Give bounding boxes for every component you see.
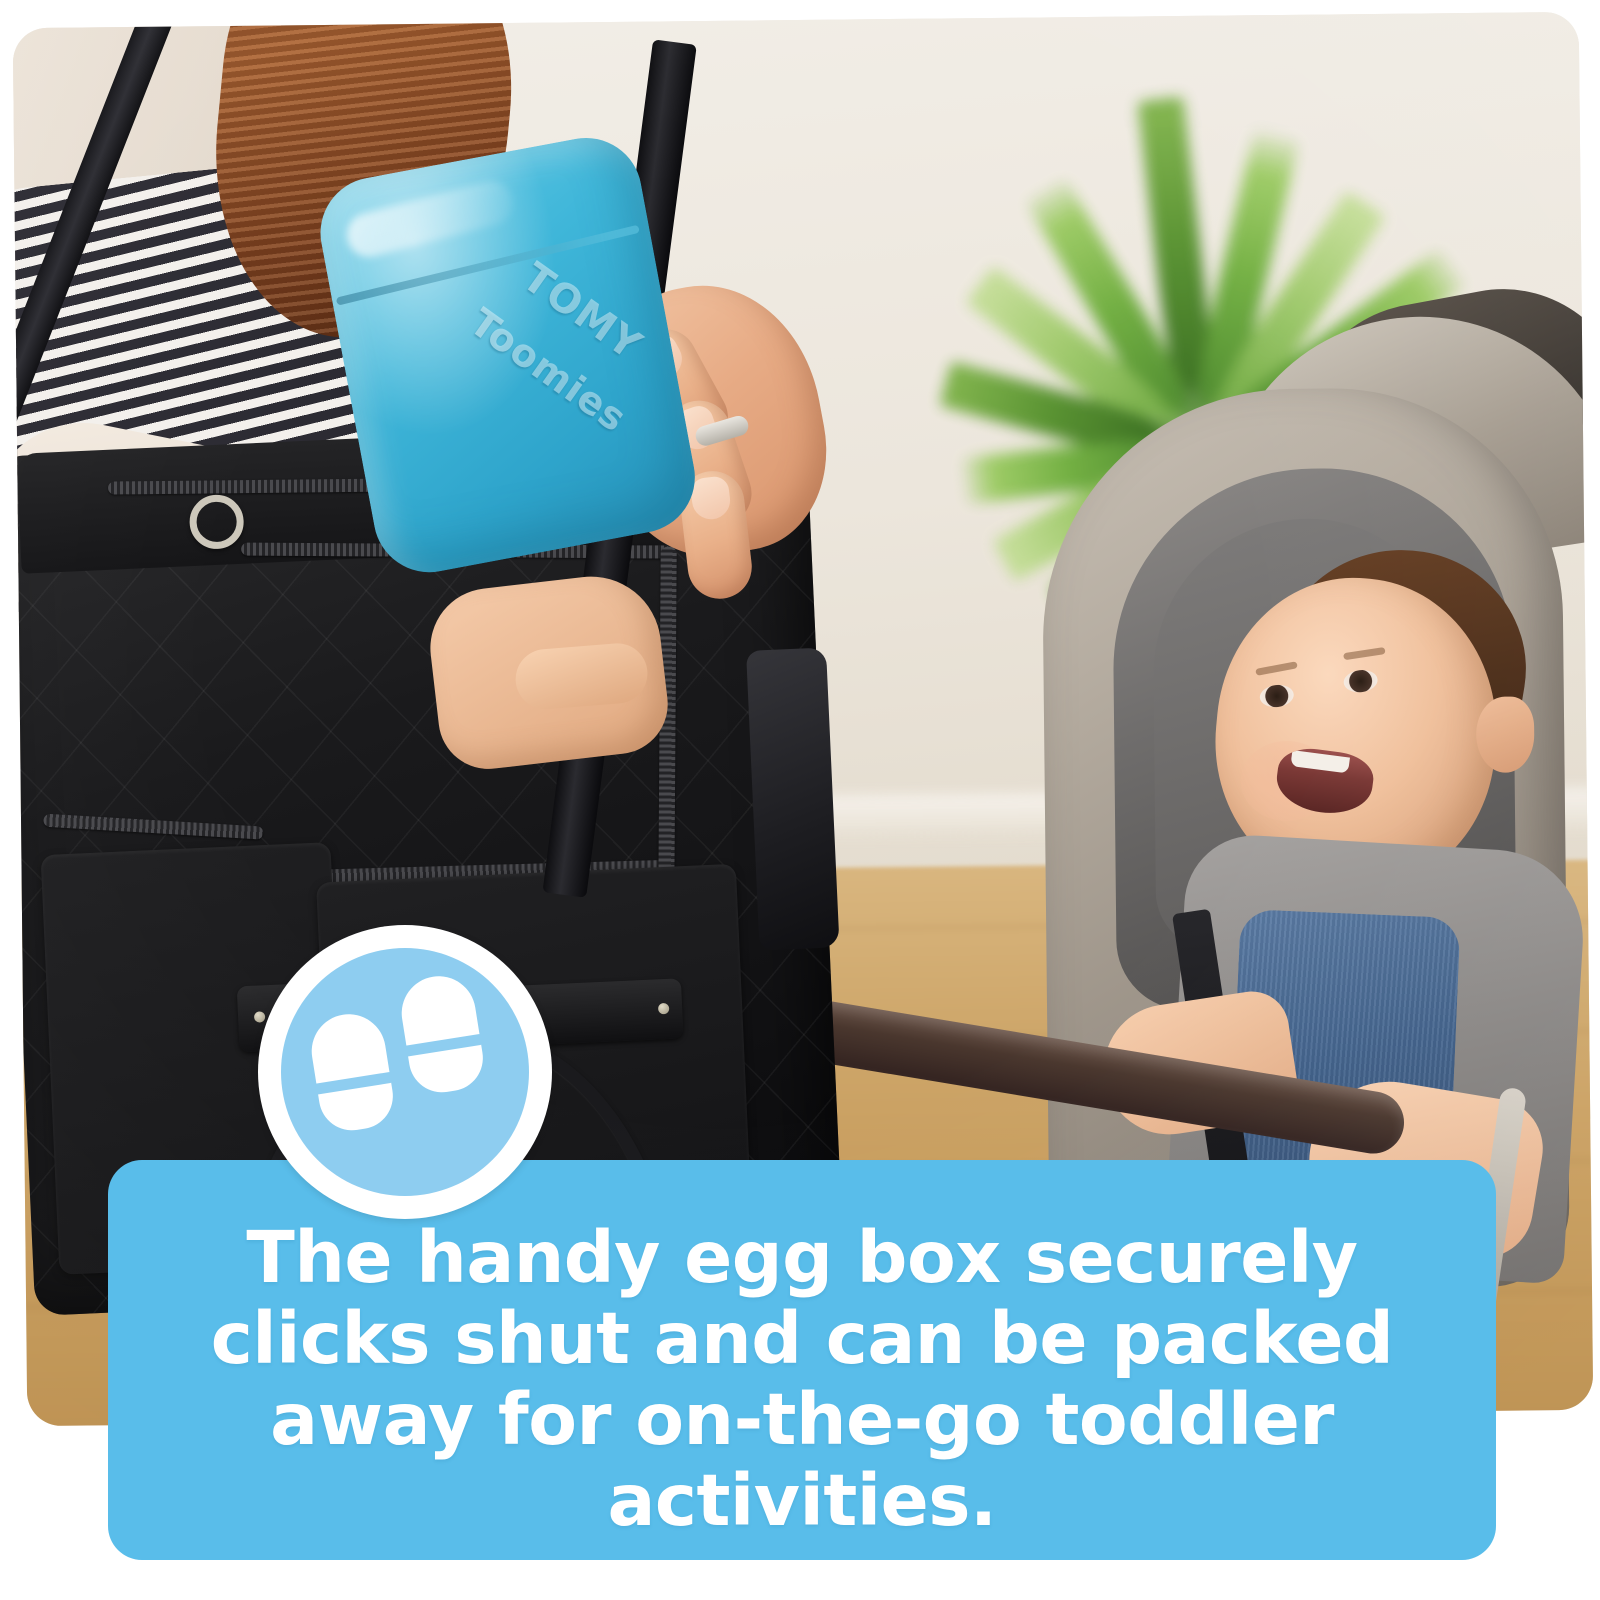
caption-text: The handy egg box securely clicks shut a… <box>162 1218 1442 1542</box>
caption-banner: The handy egg box securely clicks shut a… <box>108 1160 1496 1560</box>
baby-ear <box>1476 696 1535 773</box>
feature-badge <box>258 925 552 1219</box>
bag-side-pocket <box>746 647 840 950</box>
badge-disc <box>281 948 529 1196</box>
baby-teeth <box>1290 750 1350 773</box>
woman-knuckles <box>513 641 649 711</box>
